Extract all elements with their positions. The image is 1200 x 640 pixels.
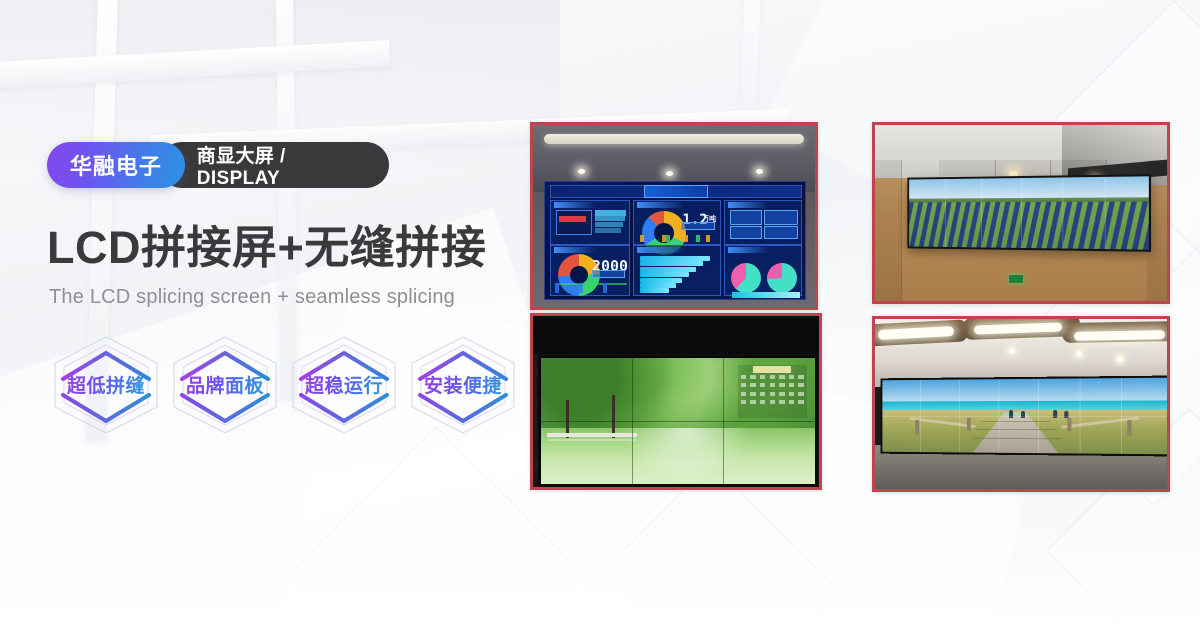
photo-control-room-dashboard: 1.2 万吨 xyxy=(530,122,818,310)
feature-label: 超低拼缝 xyxy=(67,371,145,398)
scene-control-room: 1.2 万吨 xyxy=(533,125,815,307)
feature-item-2: 超稳运行 xyxy=(285,331,403,439)
photo-garden-video-wall xyxy=(530,313,822,490)
photo-solar-farm-video-wall xyxy=(872,122,1170,304)
video-wall-solar xyxy=(908,174,1152,252)
video-wall-boardwalk xyxy=(881,375,1167,456)
page-title: LCD拼接屏+无缝拼接 xyxy=(47,224,527,272)
video-wall-garden xyxy=(537,354,818,487)
background-fade-bottom xyxy=(0,520,1200,640)
scene-garden-display xyxy=(533,316,819,487)
feature-item-3: 安装便捷 xyxy=(404,331,522,439)
badge-category-label: 商显大屏 / DISPLAY xyxy=(159,142,389,188)
headline-column: 华融电子 商显大屏 / DISPLAY LCD拼接屏+无缝拼接 The LCD … xyxy=(47,142,527,439)
feature-label: 超稳运行 xyxy=(305,371,383,398)
feature-label: 品牌面板 xyxy=(186,371,264,398)
page-subtitle: The LCD splicing screen + seamless splic… xyxy=(49,286,527,309)
photo-boardwalk-video-wall xyxy=(872,316,1170,492)
scene-wood-conference-room xyxy=(875,125,1167,301)
calendar-overlay xyxy=(738,365,806,418)
video-wall-dashboard: 1.2 万吨 xyxy=(544,181,805,299)
feature-item-0: 超低拼缝 xyxy=(47,331,165,439)
scene-lobby-display xyxy=(875,319,1167,489)
product-photo-grid: 1.2 万吨 xyxy=(530,122,1170,490)
feature-label: 安装便捷 xyxy=(424,371,502,398)
ceiling-beam-horizontal-1 xyxy=(0,40,390,90)
promo-banner: 华融电子 商显大屏 / DISPLAY LCD拼接屏+无缝拼接 The LCD … xyxy=(0,0,1200,640)
feature-hexagon-list: 超低拼缝 品牌面板 xyxy=(47,331,527,439)
feature-item-1: 品牌面板 xyxy=(166,331,284,439)
brand-name: 华融电子 xyxy=(47,142,185,188)
brand-badge: 华融电子 商显大屏 / DISPLAY xyxy=(47,142,389,188)
